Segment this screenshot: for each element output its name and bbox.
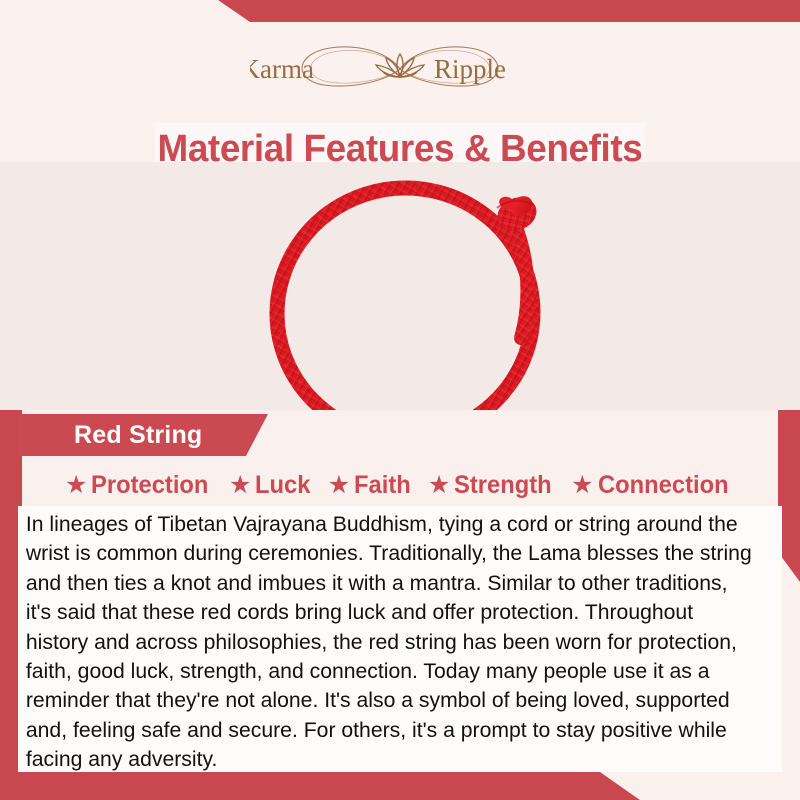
- benefit-label: Connection: [598, 471, 729, 500]
- benefit-item: ★ Connection: [564, 471, 742, 500]
- description-panel: In lineages of Tibetan Vajrayana Buddhis…: [18, 506, 782, 772]
- benefit-item: ★ Strength: [421, 471, 564, 500]
- top-accent-bar: [0, 0, 800, 22]
- star-icon: ★: [328, 473, 350, 498]
- benefit-label: Luck: [255, 471, 310, 500]
- benefit-item: ★ Luck: [222, 471, 321, 500]
- benefit-item: ★ Faith: [321, 471, 421, 500]
- bracelet-graphic: [245, 162, 585, 410]
- benefit-label: Protection: [91, 471, 208, 500]
- benefit-label: Faith: [354, 471, 411, 500]
- brand-name-right: Ripple: [434, 54, 506, 84]
- section-ribbon-label: Red String: [74, 421, 202, 450]
- benefit-item: ★ Protection: [58, 471, 222, 500]
- header-band: Karma Ripple Material Features & Benefit…: [0, 22, 800, 162]
- star-icon: ★: [229, 473, 251, 498]
- star-icon: ★: [428, 473, 450, 498]
- infographic-root: Karma Ripple Material Features & Benefit…: [0, 0, 800, 800]
- benefit-label: Strength: [454, 471, 552, 500]
- brand-logo: Karma Ripple: [0, 38, 800, 100]
- benefits-row: ★ Protection ★ Luck ★ Faith ★ Strength ★…: [0, 464, 800, 506]
- star-icon: ★: [65, 473, 87, 498]
- product-image-area: [0, 162, 800, 410]
- star-icon: ★: [571, 473, 593, 498]
- section-ribbon: Red String: [18, 414, 268, 456]
- description-text: In lineages of Tibetan Vajrayana Buddhis…: [18, 506, 771, 775]
- brand-logo-graphic: Karma Ripple: [250, 38, 550, 100]
- red-string-bracelet-image: [245, 162, 585, 410]
- bottom-accent-bar: [0, 772, 640, 800]
- brand-name-left: Karma: [250, 54, 314, 84]
